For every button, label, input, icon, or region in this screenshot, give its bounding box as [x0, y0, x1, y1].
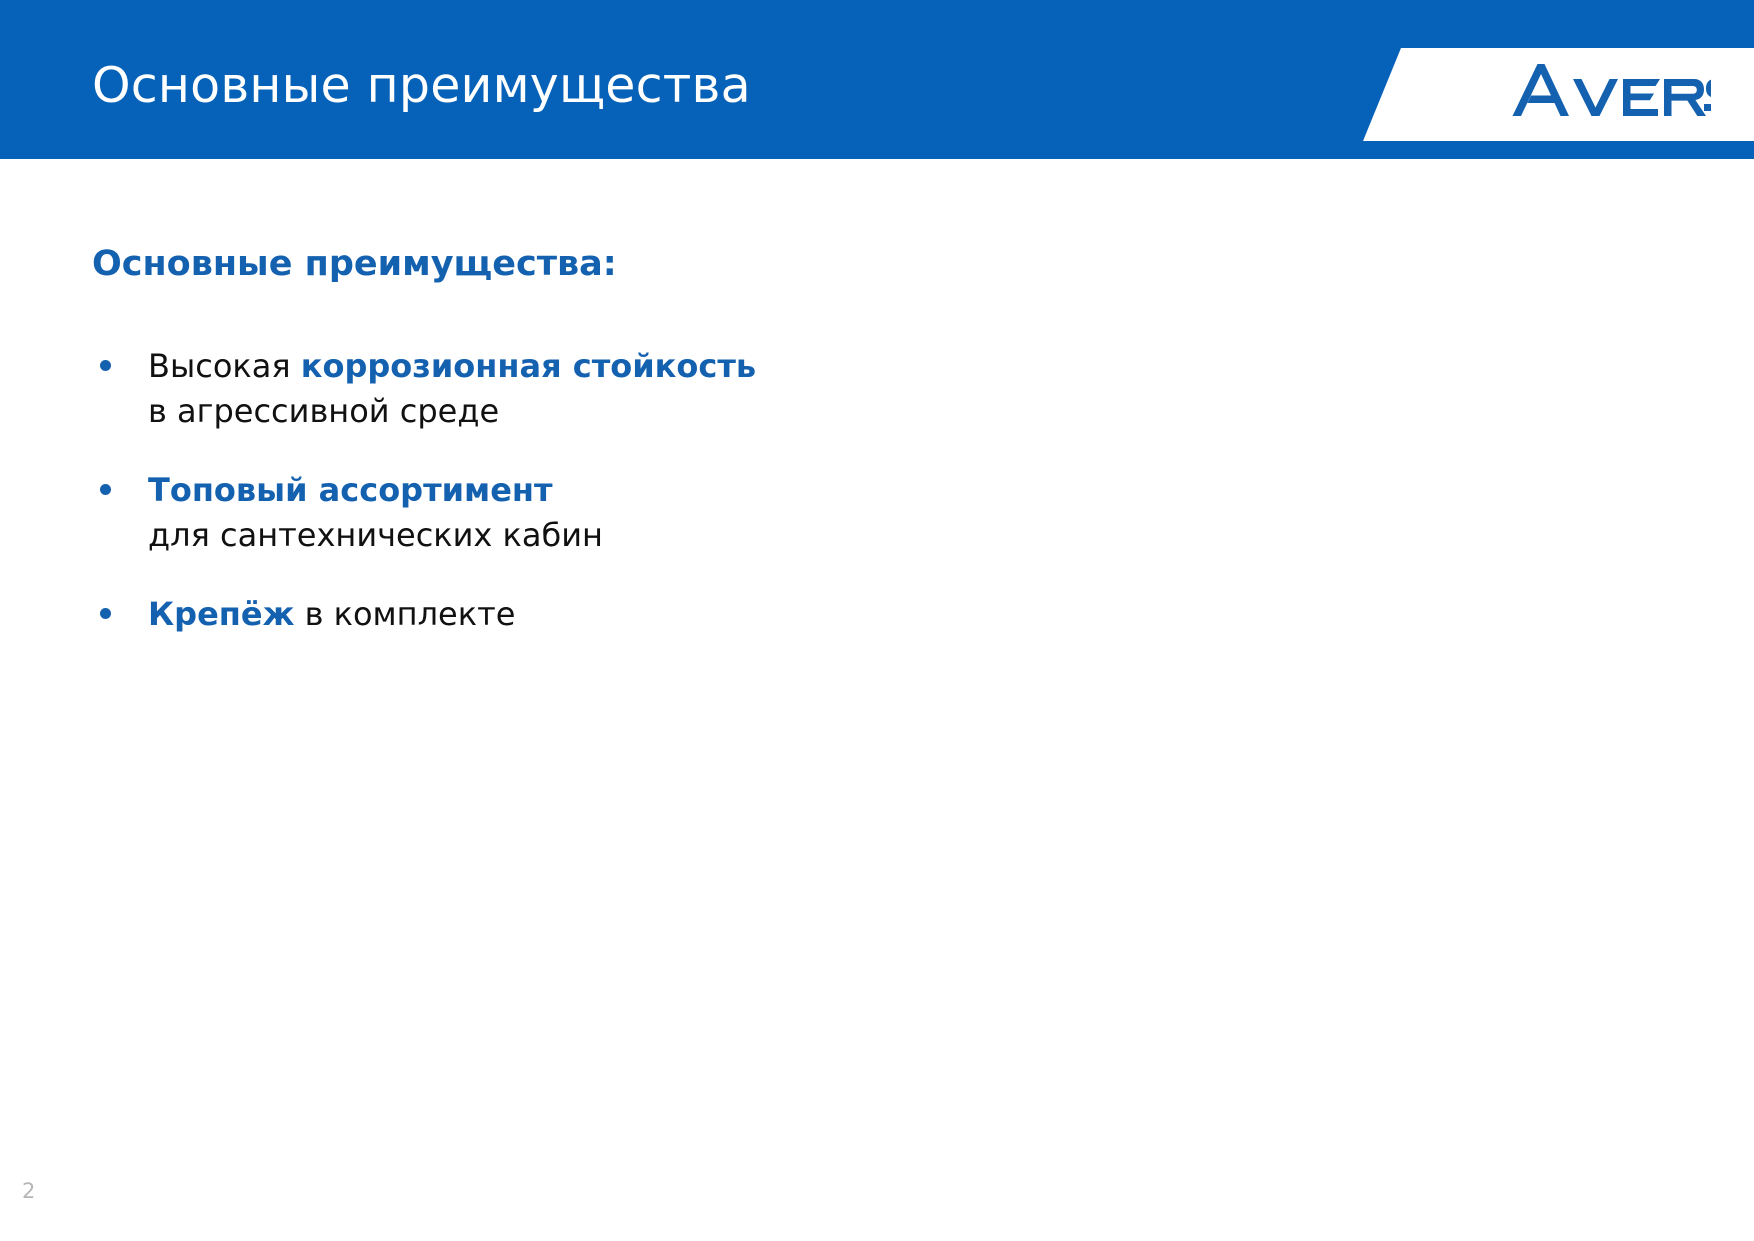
page-number: 2: [22, 1178, 35, 1204]
list-item-line-2: для сантехнических кабин: [148, 513, 1192, 558]
list-item-text-emphasis: Топовый ассортимент: [148, 471, 553, 509]
bullet-icon: [100, 360, 111, 371]
list-item: Топовый ассортимент для сантехнических к…: [92, 468, 1192, 558]
list-item: Крепёж в комплекте: [92, 592, 1192, 637]
list-item-line-1: Крепёж в комплекте: [148, 592, 1192, 637]
list-item-line-2: в агрессивной среде: [148, 389, 1192, 434]
avers-logo: [1511, 62, 1711, 120]
list-item-line-1: Высокая коррозионная стойкость: [148, 344, 1192, 389]
list-item-text-emphasis: коррозионная стойкость: [301, 347, 756, 385]
bullet-icon: [100, 608, 111, 619]
list-item-text-emphasis: Крепёж: [148, 595, 294, 633]
slide-body: Основные преимущества: Высокая коррозион…: [0, 159, 1754, 1241]
section-heading: Основные преимущества:: [92, 242, 617, 286]
slide: Основные преимущества Основные преиму: [0, 0, 1754, 1241]
advantages-list: Высокая коррозионная стойкость в агресси…: [92, 344, 1192, 637]
list-item-text-plain: Высокая: [148, 347, 301, 385]
list-item: Высокая коррозионная стойкость в агресси…: [92, 344, 1192, 434]
page-title: Основные преимущества: [92, 57, 751, 115]
list-item-text-plain: в комплекте: [294, 595, 515, 633]
list-item-line-1: Топовый ассортимент: [148, 468, 1192, 513]
bullet-icon: [100, 484, 111, 495]
